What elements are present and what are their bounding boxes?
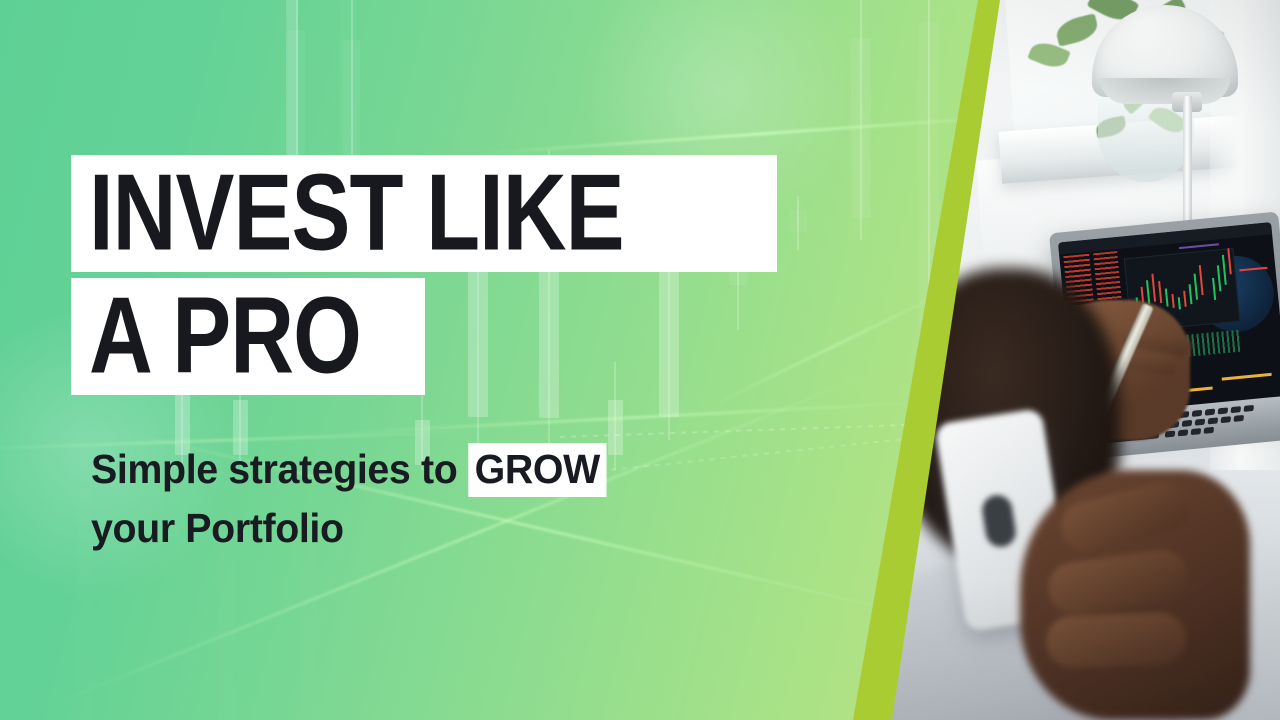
subheadline-highlight: GROW xyxy=(468,443,607,497)
headline-line-1-text: INVEST LIKE xyxy=(89,168,624,259)
headline-line-1: INVEST LIKE xyxy=(71,155,777,272)
headline-line-2-text: A PRO xyxy=(89,291,361,382)
promo-banner: INVEST LIKE A PRO Simple strategies to G… xyxy=(0,0,1280,720)
banner-content: INVEST LIKE A PRO Simple strategies to G… xyxy=(0,0,1280,720)
subheadline-prefix: Simple strategies to xyxy=(91,446,468,492)
subheadline-suffix: your Portfolio xyxy=(91,505,344,551)
headline-line-2: A PRO xyxy=(71,278,425,395)
subheadline: Simple strategies to GROWyour Portfolio xyxy=(91,440,763,557)
